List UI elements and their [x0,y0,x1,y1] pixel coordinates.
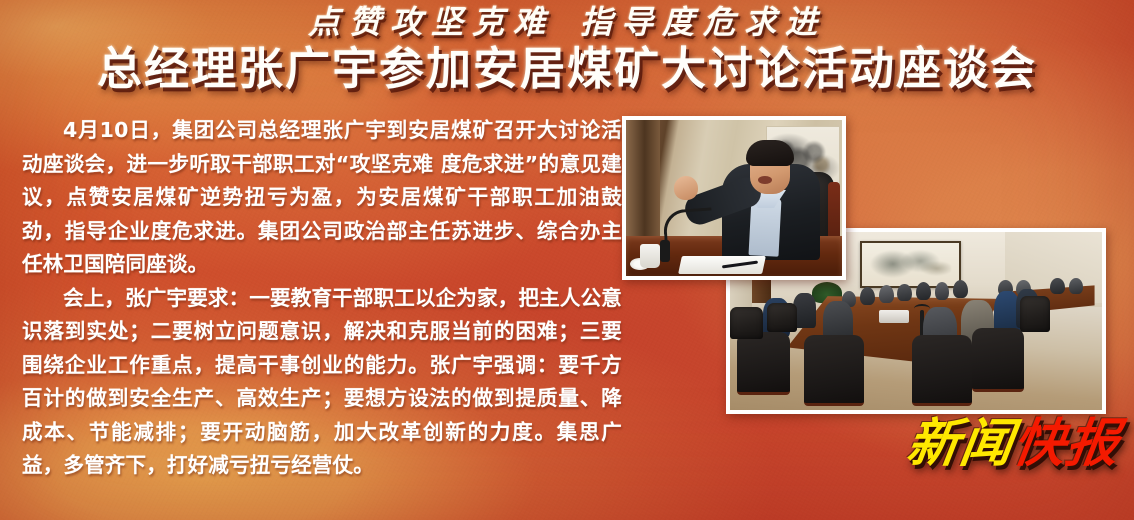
desk-microphone [662,207,714,257]
speaker-hair [746,140,794,166]
background-chair [767,303,797,331]
foreground-chair [804,335,864,406]
attendee-far [897,284,912,302]
projector-unit [879,310,909,322]
attendee-far [953,280,968,298]
microphone-base [660,240,670,262]
brand-text-yellow: 新闻 [903,414,1017,474]
background-chair [1020,296,1050,332]
photo-speaker-image [626,120,842,276]
attendee-far [879,285,894,303]
kicker-left-text: 点赞攻坚克难 [308,3,554,41]
speaker-hand [674,176,698,200]
attendee-far [1050,278,1065,294]
foreground-chair [972,328,1024,392]
background-chair [730,307,763,339]
attendee-far [916,282,931,300]
brand-logo: 新闻快报 [903,401,1126,476]
attendee-far [1069,278,1084,294]
landscape-painting [860,241,961,288]
foreground-chair [912,335,972,406]
attendee-far [935,282,950,300]
article-body: 4月10日，集团公司总经理张广宇到安居煤矿召开大讨论活动座谈会，进一步听取干部职… [22,114,622,483]
news-poster: 点赞攻坚克难指导度危求进 总经理张广宇参加安居煤矿大讨论活动座谈会 4月10日，… [0,0,1134,520]
photo-speaker [622,116,846,280]
article-paragraph-1: 4月10日，集团公司总经理张广宇到安居煤矿召开大讨论活动座谈会，进一步听取干部职… [22,114,622,282]
article-paragraph-2: 会上，张广宇要求：一要教育干部职工以企为家，把主人公意识落到实处；二要树立问题意… [22,282,622,483]
brand-text-red: 快报 [1009,414,1123,474]
kicker-right-text: 指导度危求进 [580,3,826,41]
page-title: 总经理张广宇参加安居煤矿大讨论活动座谈会 [0,44,1134,94]
attendee-far [860,287,875,305]
heading-block: 点赞攻坚克难指导度危求进 总经理张广宇参加安居煤矿大讨论活动座谈会 [0,4,1134,94]
foreground-chair [737,332,789,396]
kicker-line: 点赞攻坚克难指导度危求进 [0,4,1134,42]
speaker-mouth [758,176,772,184]
tea-cup [640,244,660,268]
